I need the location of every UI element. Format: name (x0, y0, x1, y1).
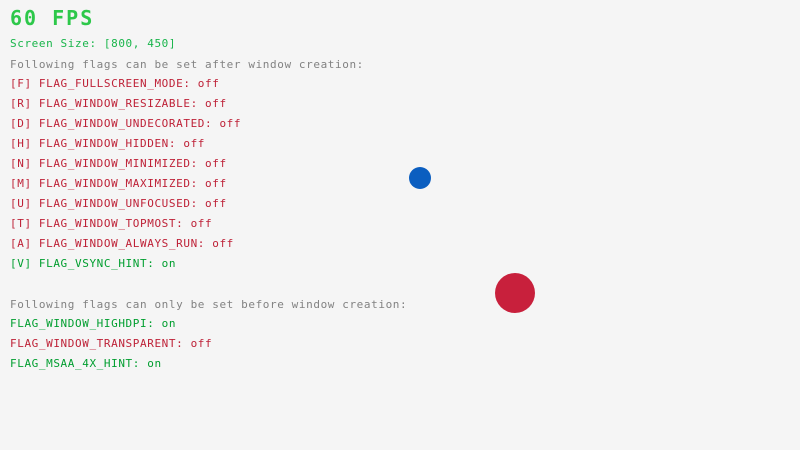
fps-counter: 60 FPS (10, 8, 94, 28)
flag-row-flag-window-highdpi[interactable]: FLAG_WINDOW_HIGHDPI: on (10, 318, 176, 329)
flag-row-flag-window-resizable[interactable]: [R] FLAG_WINDOW_RESIZABLE: off (10, 98, 227, 109)
flag-row-flag-window-unfocused[interactable]: [U] FLAG_WINDOW_UNFOCUSED: off (10, 198, 227, 209)
flag-row-flag-window-maximized[interactable]: [M] FLAG_WINDOW_MAXIMIZED: off (10, 178, 227, 189)
section-header-after-creation: Following flags can be set after window … (10, 59, 364, 70)
bouncing-ball-red (495, 273, 535, 313)
flag-row-flag-window-minimized[interactable]: [N] FLAG_WINDOW_MINIMIZED: off (10, 158, 227, 169)
flag-row-flag-window-always-run[interactable]: [A] FLAG_WINDOW_ALWAYS_RUN: off (10, 238, 234, 249)
flag-row-flag-vsync-hint[interactable]: [V] FLAG_VSYNC_HINT: on (10, 258, 176, 269)
flag-row-flag-window-transparent[interactable]: FLAG_WINDOW_TRANSPARENT: off (10, 338, 212, 349)
flag-row-flag-msaa-4x-hint[interactable]: FLAG_MSAA_4X_HINT: on (10, 358, 162, 369)
flag-row-flag-window-hidden[interactable]: [H] FLAG_WINDOW_HIDDEN: off (10, 138, 205, 149)
screen-size-label: Screen Size: [800, 450] (10, 38, 176, 49)
flag-row-flag-window-topmost[interactable]: [T] FLAG_WINDOW_TOPMOST: off (10, 218, 212, 229)
raylib-window-canvas[interactable]: 60 FPS Screen Size: [800, 450] Following… (0, 0, 800, 450)
section-header-before-creation: Following flags can only be set before w… (10, 299, 407, 310)
flag-row-flag-window-undecorated[interactable]: [D] FLAG_WINDOW_UNDECORATED: off (10, 118, 241, 129)
flag-row-flag-fullscreen-mode[interactable]: [F] FLAG_FULLSCREEN_MODE: off (10, 78, 219, 89)
bouncing-ball-blue (409, 167, 431, 189)
